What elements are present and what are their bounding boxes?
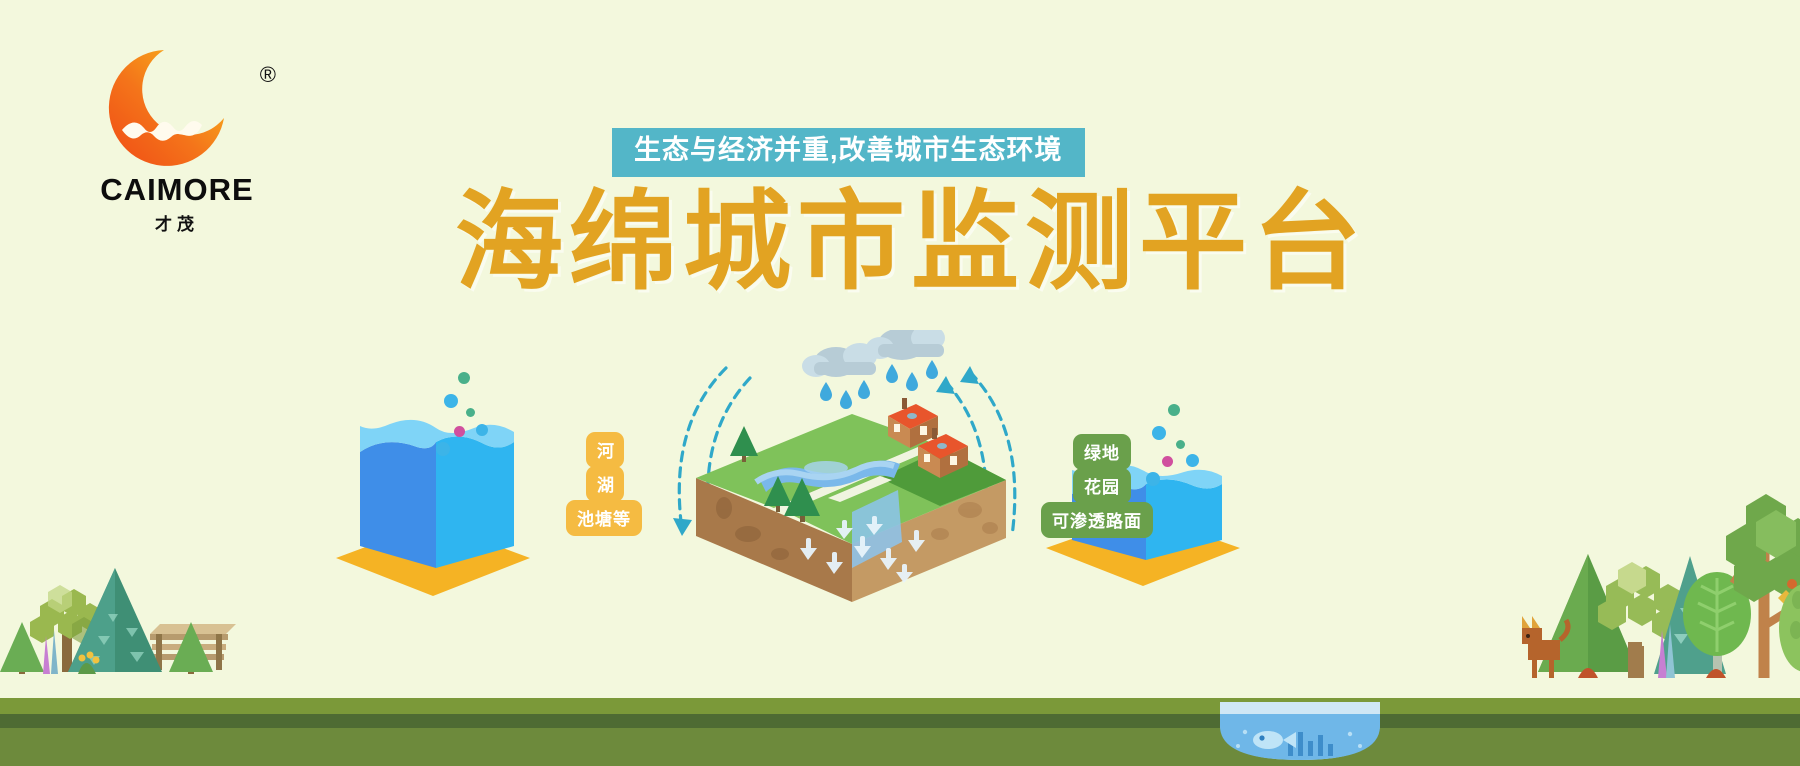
arrowhead-icon bbox=[960, 366, 979, 384]
diagram-label-right-1[interactable]: 花园 bbox=[1073, 468, 1131, 504]
raindrop-icon bbox=[886, 360, 938, 391]
scenery-left-group bbox=[0, 524, 290, 704]
rain-cloud-icon bbox=[802, 343, 877, 377]
diagram-label-right-0[interactable]: 绿地 bbox=[1073, 434, 1131, 470]
bubble-icon bbox=[1146, 472, 1160, 486]
bubble-icon bbox=[458, 372, 470, 384]
diagram-label-left-1[interactable]: 湖 bbox=[586, 466, 624, 502]
bubble-icon bbox=[1186, 454, 1199, 467]
sponge-city-diagram bbox=[640, 330, 1060, 620]
diagram-label-right-2[interactable]: 可渗透路面 bbox=[1041, 502, 1153, 538]
bubble-icon bbox=[436, 442, 450, 456]
bubble-icon bbox=[1152, 426, 1166, 440]
diagram-label-left-2[interactable]: 池塘等 bbox=[566, 500, 642, 536]
scenery-right-group bbox=[1520, 478, 1800, 704]
page-title: 海绵城市监测平台 bbox=[455, 182, 1355, 303]
brand-logo[interactable]: ® CAIMORE 才茂 bbox=[88, 46, 268, 226]
raindrop-icon bbox=[820, 380, 870, 409]
bubble-icon bbox=[1168, 404, 1180, 416]
arrowhead-icon bbox=[936, 376, 955, 394]
logo-brand-chinese: 才茂 bbox=[82, 210, 272, 235]
hero-subtitle-banner: 生态与经济并重,改善城市生态环境 bbox=[612, 128, 1085, 177]
bubble-icon bbox=[444, 394, 458, 408]
registered-trademark-icon: ® bbox=[260, 62, 276, 88]
rain-cloud-icon bbox=[866, 330, 945, 360]
pond-with-fish bbox=[1200, 694, 1400, 766]
bubble-group bbox=[434, 372, 504, 456]
bubble-icon bbox=[466, 408, 475, 417]
bubble-icon bbox=[1162, 456, 1173, 467]
hero-banner: ® CAIMORE 才茂 生态与经济并重,改善城市生态环境 海绵城市监测平台 bbox=[0, 0, 1800, 766]
bubble-icon bbox=[476, 424, 488, 436]
bubble-icon bbox=[1176, 440, 1185, 449]
bubble-group bbox=[1144, 404, 1214, 484]
diagram-label-left-0[interactable]: 河 bbox=[586, 432, 624, 468]
ground-strip-mid bbox=[0, 728, 1800, 766]
arrowhead-icon bbox=[673, 518, 692, 536]
bubble-icon bbox=[454, 426, 465, 437]
crescent-moon-wave-logo-icon bbox=[94, 46, 234, 171]
ground-strip-dark bbox=[0, 714, 1800, 728]
water-cube-right bbox=[1028, 396, 1258, 596]
tree-trunk-icon bbox=[1628, 642, 1642, 678]
logo-brand-latin: CAIMORE bbox=[82, 172, 272, 208]
water-cube-left bbox=[318, 370, 548, 605]
